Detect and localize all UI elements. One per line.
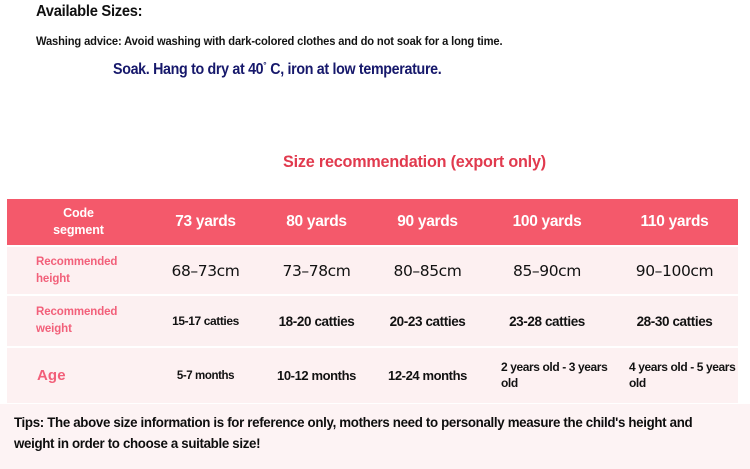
header-cell-100-yards: 100 yards: [483, 199, 611, 245]
care-instructions-block: Available Sizes: Washing advice: Avoid w…: [0, 0, 750, 150]
size-recommendation-title: Size recommendation (export only): [283, 152, 546, 172]
table-row-recommended-height: Recommended height 68–73cm 73–78cm 80–85…: [7, 247, 738, 294]
cell-height-80: 73–78cm: [261, 247, 372, 294]
cell-age-110: 4 years old - 5 years old: [611, 348, 738, 403]
size-chart-table: Code segment 73 yards 80 yards 90 yards …: [7, 199, 738, 403]
cell-age-73: 5-7 months: [150, 348, 261, 403]
cell-height-90: 80–85cm: [372, 247, 483, 294]
row-label-line1: Recommended: [36, 306, 117, 318]
row-label-recommended-height: Recommended height: [7, 247, 150, 294]
header-cell-code-segment: Code segment: [7, 199, 150, 245]
cell-age-100: 2 years old - 3 years old: [483, 348, 611, 403]
cell-weight-90: 20-23 catties: [372, 296, 483, 346]
header-code-segment-line2: segment: [53, 223, 104, 237]
cell-weight-100: 23-28 catties: [483, 296, 611, 346]
soak-instruction-text: Soak. Hang to dry at 40° C, iron at low …: [113, 60, 441, 79]
tips-text: Tips: The above size information is for …: [14, 412, 700, 454]
table-row-recommended-weight: Recommended weight 15-17 catties 18-20 c…: [7, 296, 738, 346]
table-header-row: Code segment 73 yards 80 yards 90 yards …: [7, 199, 738, 245]
available-sizes-heading: Available Sizes:: [36, 3, 142, 21]
row-label-age: Age: [7, 348, 150, 403]
cell-height-100: 85–90cm: [483, 247, 611, 294]
header-code-segment-line1: Code: [63, 206, 94, 220]
row-label-line2: height: [36, 273, 70, 285]
cell-age-90: 12-24 months: [372, 348, 483, 403]
row-label-line1: Recommended: [36, 256, 117, 268]
row-label-line2: weight: [36, 323, 72, 335]
header-cell-110-yards: 110 yards: [611, 199, 738, 245]
cell-age-80: 10-12 months: [261, 348, 372, 403]
cell-weight-110: 28-30 catties: [611, 296, 738, 346]
tips-footer-block: Tips: The above size information is for …: [0, 404, 750, 469]
soak-instruction-prefix: Soak. Hang to dry at 40: [113, 61, 263, 78]
cell-weight-80: 18-20 catties: [261, 296, 372, 346]
row-label-recommended-weight: Recommended weight: [7, 296, 150, 346]
cell-height-110: 90–100cm: [611, 247, 738, 294]
cell-weight-73: 15-17 catties: [150, 296, 261, 346]
soak-instruction-suffix: C, iron at low temperature.: [267, 61, 442, 78]
header-cell-73-yards: 73 yards: [150, 199, 261, 245]
table-row-age: Age 5-7 months 10-12 months 12-24 months…: [7, 348, 738, 403]
header-cell-90-yards: 90 yards: [372, 199, 483, 245]
washing-advice-text: Washing advice: Avoid washing with dark-…: [36, 34, 502, 48]
header-cell-80-yards: 80 yards: [261, 199, 372, 245]
cell-height-73: 68–73cm: [150, 247, 261, 294]
